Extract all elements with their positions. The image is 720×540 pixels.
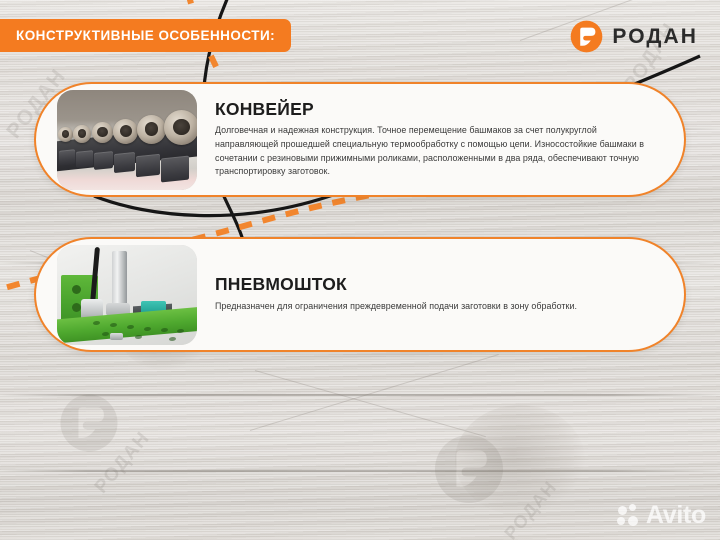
section-header-label: КОНСТРУКТИВНЫЕ ОСОБЕННОСТИ: [16,29,275,43]
card-description: Долговечная и надежная конструкция. Точн… [215,124,658,179]
brand-watermark-logo [58,392,120,454]
card-description: Предназначен для ограничения преждевреме… [215,300,658,314]
avito-watermark: Avito [617,503,706,528]
conveyor-card-body: КОНВЕЙЕР Долговечная и надежная конструк… [197,100,684,179]
pneumatic-card-body: ПНЕВМОШТОК Предназначен для ограничения … [197,275,684,313]
card-title: КОНВЕЙЕР [215,100,658,119]
brand-watermark-logo [432,432,506,506]
brand-logo: РОДАН [570,20,698,53]
brand-wordmark: РОДАН [612,26,698,47]
pneumatic-rod-thumbnail [57,245,197,345]
feature-card-pneumatic-rod[interactable]: ПНЕВМОШТОК Предназначен для ограничения … [34,237,686,352]
card-title: ПНЕВМОШТОК [215,275,658,294]
conveyor-thumbnail [57,90,197,190]
avito-dots-icon [617,504,641,528]
avito-label: Avito [646,503,706,528]
slide-canvas: РОДАН РОДАН РОДАН РОДАН КОНСТРУКТИВНЫЕ О… [0,0,720,540]
feature-card-conveyor[interactable]: КОНВЕЙЕР Долговечная и надежная конструк… [34,82,686,197]
section-header-banner: КОНСТРУКТИВНЫЕ ОСОБЕННОСТИ: [0,19,291,52]
rodan-swirl-icon [570,20,603,53]
